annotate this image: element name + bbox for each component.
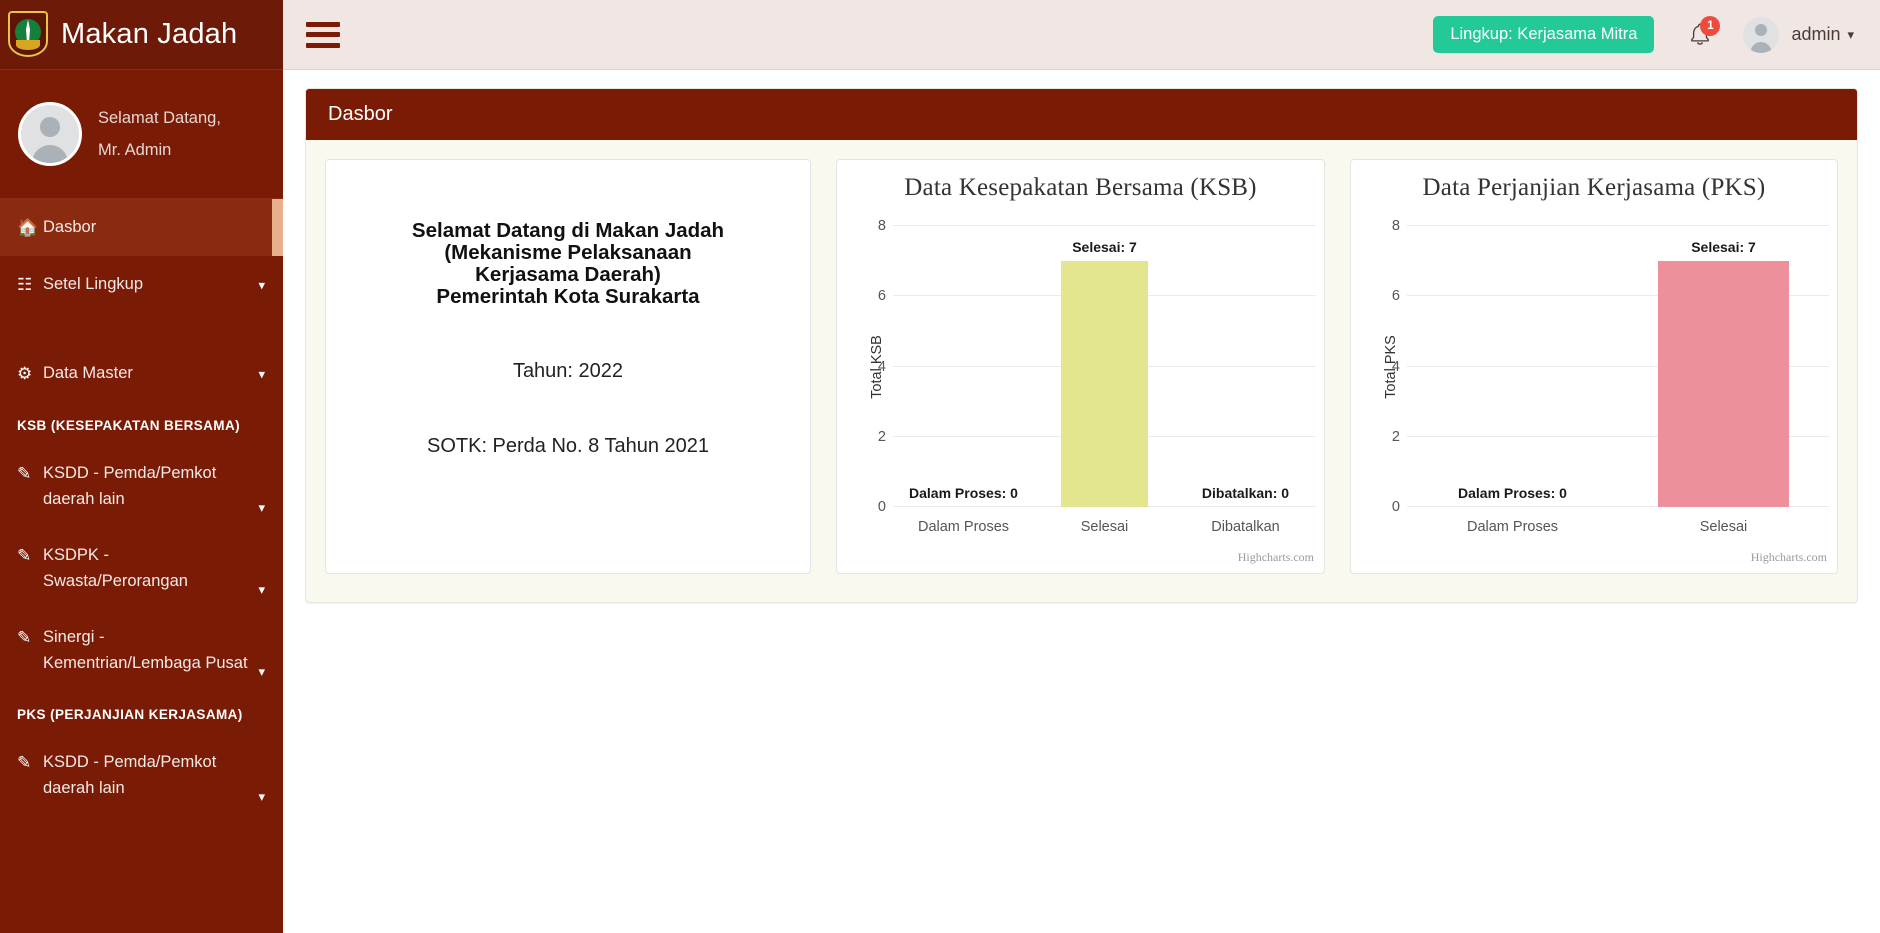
profile-text: Selamat Datang, Mr. Admin — [98, 102, 221, 166]
sidebar-item-data-master[interactable]: ⚙ Data Master ▾ — [0, 345, 283, 402]
edit-square-icon: ✎ — [17, 460, 43, 487]
notification-count-badge: 1 — [1700, 16, 1720, 36]
home-icon: 🏠 — [17, 214, 43, 241]
edit-square-icon: ✎ — [17, 624, 43, 651]
edit-square-icon: ✎ — [17, 542, 43, 569]
y-tick-label: 6 — [878, 288, 886, 304]
y-tick-label: 2 — [1392, 429, 1400, 445]
chevron-down-icon[interactable]: ▾ — [258, 367, 265, 380]
surakarta-crest-icon — [8, 11, 50, 59]
x-tick-label: Dalam Proses — [1407, 519, 1618, 535]
nav-spacer — [0, 313, 283, 345]
bar-data-label: Dalam Proses: 0 — [1458, 485, 1567, 501]
chevron-down-icon[interactable]: ▾ — [258, 583, 265, 596]
chart-title: Data Perjanjian Kerjasama (PKS) — [1351, 160, 1837, 202]
x-tick-label: Dalam Proses — [893, 519, 1034, 535]
sidebar-item-label: KSDPK - Swasta/Perorangan — [43, 542, 267, 594]
chart-bars: Dalam Proses: 0Selesai: 7Dibatalkan: 0 — [893, 226, 1316, 507]
sidebar-item-ksb-ksdpk[interactable]: ✎ KSDPK - Swasta/Perorangan ▾ — [0, 527, 283, 609]
welcome-sotk: SOTK: Perda No. 8 Tahun 2021 — [348, 435, 788, 458]
chart-x-tick-labels: Dalam ProsesSelesaiDibatalkan — [893, 519, 1316, 535]
chevron-down-icon[interactable]: ▾ — [1847, 27, 1854, 43]
bar-slot: Dibatalkan: 0 — [1175, 226, 1316, 507]
sidebar-item-label: KSDD - Pemda/Pemkot daerah lain — [43, 460, 267, 512]
sidebar-item-label: Setel Lingkup — [43, 271, 267, 297]
topbar: Lingkup: Kerjasama Mitra 1 admin ▾ — [283, 0, 1880, 70]
sidebar: Makan Jadah Selamat Datang, Mr. Admin 🏠 … — [0, 0, 283, 933]
sidebar-item-ksb-ksdd[interactable]: ✎ KSDD - Pemda/Pemkot daerah lain ▾ — [0, 445, 283, 527]
sidebar-item-label: Sinergi - Kementrian/Lembaga Pusat — [43, 624, 267, 676]
y-tick-label: 2 — [878, 429, 886, 445]
x-tick-label: Selesai — [1034, 519, 1175, 535]
chart-plot-area: 02468Dalam Proses: 0Selesai: 7Dibatalkan… — [893, 226, 1316, 507]
welcome-title: Selamat Datang di Makan Jadah (Mekanisme… — [348, 220, 788, 308]
sidebar-item-ksb-sinergi[interactable]: ✎ Sinergi - Kementrian/Lembaga Pusat ▾ — [0, 609, 283, 691]
brand-title: Makan Jadah — [61, 18, 237, 51]
profile-greeting: Selamat Datang, — [98, 102, 221, 134]
sidebar-item-label: Dasbor — [43, 214, 267, 240]
x-tick-label: Selesai — [1618, 519, 1829, 535]
chart-bar[interactable]: Selesai: 7 — [1658, 261, 1789, 507]
bar-data-label: Dibatalkan: 0 — [1202, 485, 1289, 501]
chart-plot-area: 02468Dalam Proses: 0Selesai: 7 — [1407, 226, 1829, 507]
sitemap-icon: ☷ — [17, 271, 43, 298]
chart-credits: Highcharts.com — [1238, 550, 1314, 565]
sidebar-item-setel-lingkup[interactable]: ☷ Setel Lingkup ▾ — [0, 256, 283, 313]
sidebar-section-pks: PKS (PERJANJIAN KERJASAMA) — [0, 691, 283, 734]
bar-slot: Dalam Proses: 0 — [1407, 226, 1618, 507]
y-tick-label: 4 — [878, 359, 886, 375]
app-root: Makan Jadah Selamat Datang, Mr. Admin 🏠 … — [0, 0, 1880, 933]
sidebar-profile: Selamat Datang, Mr. Admin — [0, 70, 283, 199]
y-tick-label: 4 — [1392, 359, 1400, 375]
panel-body: Selamat Datang di Makan Jadah (Mekanisme… — [306, 140, 1857, 602]
sidebar-section-ksb: KSB (KESEPAKATAN BERSAMA) — [0, 402, 283, 445]
bar-slot: Selesai: 7 — [1034, 226, 1175, 507]
bar-data-label: Selesai: 7 — [1072, 239, 1137, 255]
profile-name: Mr. Admin — [98, 134, 221, 166]
sidebar-item-label: Data Master — [43, 360, 267, 386]
page-title: Dasbor — [306, 89, 1857, 140]
chevron-down-icon[interactable]: ▾ — [258, 501, 265, 514]
notification-bell-button[interactable]: 1 — [1683, 16, 1717, 54]
welcome-year: Tahun: 2022 — [348, 360, 788, 383]
bar-slot: Dalam Proses: 0 — [893, 226, 1034, 507]
topbar-right: Lingkup: Kerjasama Mitra 1 admin ▾ — [1433, 16, 1880, 54]
scope-badge[interactable]: Lingkup: Kerjasama Mitra — [1433, 16, 1654, 53]
chevron-down-icon[interactable]: ▾ — [258, 278, 265, 291]
x-tick-label: Dibatalkan — [1175, 519, 1316, 535]
user-menu-label[interactable]: admin — [1791, 24, 1840, 45]
chevron-down-icon[interactable]: ▾ — [258, 665, 265, 678]
sidebar-item-label: KSDD - Pemda/Pemkot daerah lain — [43, 749, 267, 801]
edit-square-icon: ✎ — [17, 749, 43, 776]
main-content: Dasbor Selamat Datang di Makan Jadah (Me… — [283, 70, 1880, 933]
dashboard-panel: Dasbor Selamat Datang di Makan Jadah (Me… — [305, 88, 1858, 603]
sidebar-item-dasbor[interactable]: 🏠 Dasbor — [0, 199, 283, 256]
sidebar-nav: 🏠 Dasbor ☷ Setel Lingkup ▾ ⚙ Data Master… — [0, 199, 283, 816]
chart-bar[interactable]: Selesai: 7 — [1061, 261, 1148, 507]
y-tick-label: 0 — [1392, 499, 1400, 515]
hamburger-icon[interactable] — [306, 22, 340, 48]
gear-icon: ⚙ — [17, 360, 43, 387]
sidebar-item-pks-ksdd[interactable]: ✎ KSDD - Pemda/Pemkot daerah lain ▾ — [0, 734, 283, 816]
welcome-card: Selamat Datang di Makan Jadah (Mekanisme… — [325, 159, 811, 574]
y-tick-label: 6 — [1392, 288, 1400, 304]
chart-bars: Dalam Proses: 0Selesai: 7 — [1407, 226, 1829, 507]
bar-data-label: Selesai: 7 — [1691, 239, 1756, 255]
chart-credits: Highcharts.com — [1751, 550, 1827, 565]
chevron-down-icon[interactable]: ▾ — [258, 790, 265, 803]
bar-slot: Selesai: 7 — [1618, 226, 1829, 507]
chart-ksb: Data Kesepakatan Bersama (KSB) Total KSB… — [836, 159, 1325, 574]
y-tick-label: 8 — [1392, 218, 1400, 234]
user-avatar-icon[interactable] — [1743, 17, 1779, 53]
chart-x-tick-labels: Dalam ProsesSelesai — [1407, 519, 1829, 535]
chart-pks: Data Perjanjian Kerjasama (PKS) Total PK… — [1350, 159, 1838, 574]
y-tick-label: 8 — [878, 218, 886, 234]
brand-header[interactable]: Makan Jadah — [0, 0, 283, 70]
user-avatar-icon — [18, 102, 82, 166]
chart-title: Data Kesepakatan Bersama (KSB) — [837, 160, 1324, 202]
y-tick-label: 0 — [878, 499, 886, 515]
bar-data-label: Dalam Proses: 0 — [909, 485, 1018, 501]
